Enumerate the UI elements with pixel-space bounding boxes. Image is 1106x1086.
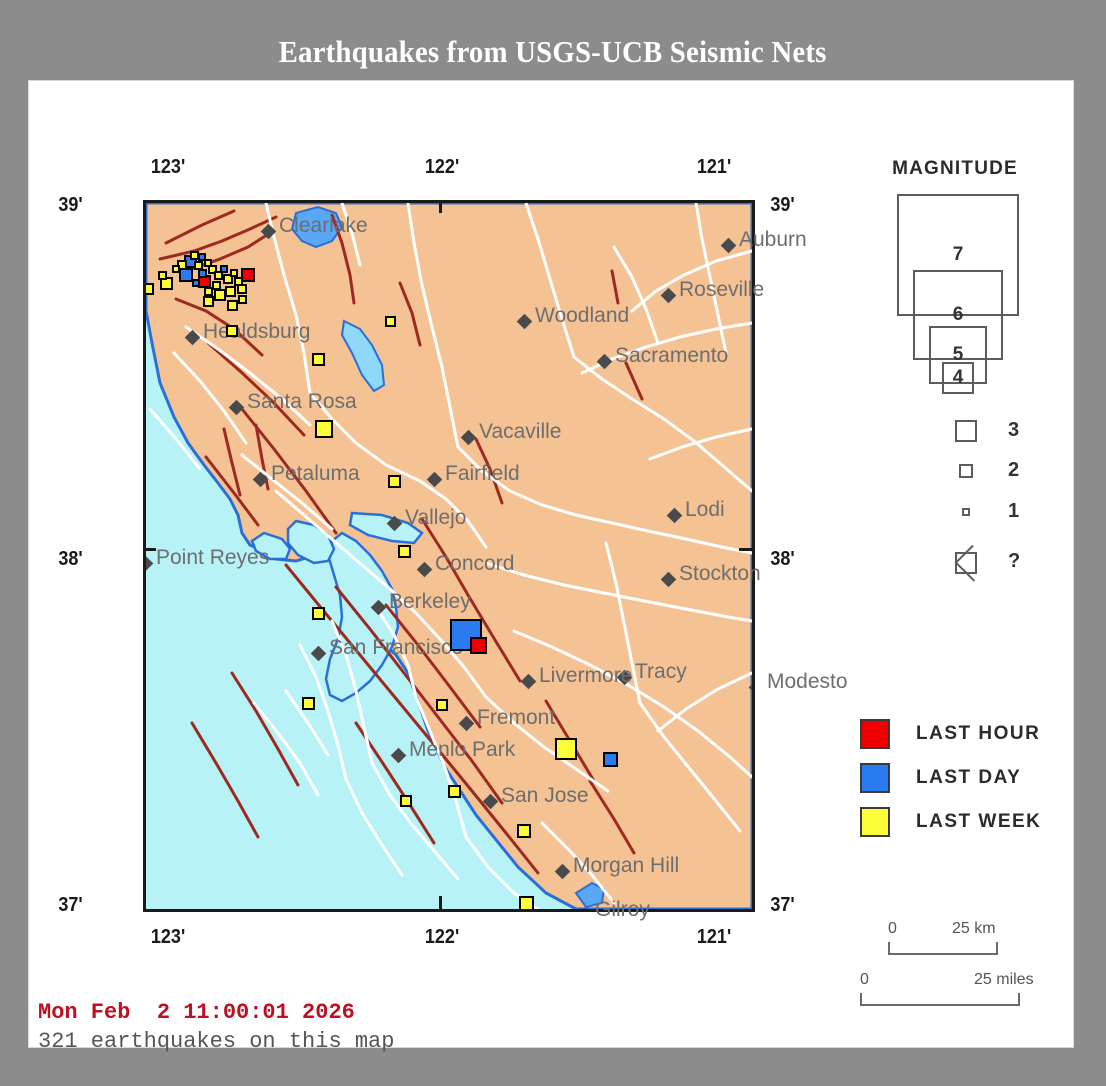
city-label: San Francisco (329, 636, 463, 660)
magnitude-box-3 (955, 420, 977, 442)
map-tick-top (439, 200, 442, 213)
earthquake-count: 321 earthquakes on this map (38, 1029, 394, 1054)
recency-swatch (860, 719, 890, 749)
magnitude-box-stack: 7654321? (860, 194, 1070, 664)
page-title: Earthquakes from USGS-UCB Seismic Nets (279, 34, 827, 70)
longitude-label-bottom-1: 122' (425, 926, 459, 949)
earthquake-map[interactable]: ClearlakeAuburnRosevilleWoodlandSacramen… (143, 200, 755, 912)
longitude-label-top-1: 122' (425, 156, 459, 179)
earthquake-marker[interactable] (234, 277, 243, 286)
city-label: Morgan Hill (573, 854, 679, 878)
city-label: Modesto (767, 670, 848, 694)
earthquake-marker[interactable] (398, 545, 411, 558)
map-tick-bottom (439, 896, 442, 909)
recency-row: LAST DAY (860, 756, 1041, 800)
city-label: Clearlake (279, 214, 368, 238)
map-tick-left (143, 548, 156, 551)
earthquake-marker[interactable] (179, 268, 193, 282)
earthquake-marker[interactable] (143, 283, 154, 295)
application-window: Earthquakes from USGS-UCB Seismic Nets (0, 0, 1106, 1086)
earthquake-marker[interactable] (204, 259, 212, 267)
city-label: Berkeley (389, 590, 471, 614)
city-label: Auburn (739, 228, 807, 252)
earthquake-marker[interactable] (198, 269, 207, 278)
earthquake-marker[interactable] (238, 295, 247, 304)
city-label: Gilroy (595, 898, 650, 922)
earthquake-marker[interactable] (519, 896, 534, 911)
city-label: Livermore (539, 664, 632, 688)
earthquake-marker[interactable] (517, 824, 531, 838)
earthquake-marker[interactable] (225, 286, 236, 297)
earthquake-marker[interactable] (203, 296, 214, 307)
city-label: Vallejo (405, 506, 466, 530)
city-label: Concord (435, 552, 514, 576)
earthquake-marker[interactable] (192, 279, 200, 287)
scale-zero-label: 0 (888, 920, 897, 938)
city-label: Sacramento (615, 344, 728, 368)
magnitude-box-label-7: 7 (938, 244, 978, 266)
magnitude-label-2: 2 (1008, 459, 1019, 482)
recency-label: LAST WEEK (916, 811, 1041, 833)
earthquake-marker[interactable] (312, 353, 325, 366)
magnitude-box-unknown (955, 552, 977, 574)
latitude-label-right-1: 38' (770, 548, 794, 571)
city-label: Tracy (635, 660, 687, 684)
earthquake-marker[interactable] (603, 752, 618, 767)
earthquake-marker[interactable] (212, 281, 221, 290)
recency-row: LAST WEEK (860, 800, 1041, 844)
city-label: Stockton (679, 562, 761, 586)
magnitude-label-3: 3 (1008, 419, 1019, 442)
city-label: Lodi (685, 498, 725, 522)
longitude-label-top-2: 121' (697, 156, 731, 179)
earthquake-marker[interactable] (172, 265, 180, 273)
city-label: San Jose (501, 784, 589, 808)
earthquake-marker[interactable] (226, 325, 238, 337)
earthquake-marker[interactable] (400, 795, 412, 807)
earthquake-marker[interactable] (227, 300, 238, 311)
scale-end-label: 25 miles (974, 971, 1034, 989)
earthquake-marker[interactable] (388, 475, 401, 488)
magnitude-legend-title: MAGNITUDE (860, 158, 1050, 180)
recency-row: LAST HOUR (860, 712, 1041, 756)
earthquake-marker[interactable] (315, 420, 333, 438)
earthquake-marker[interactable] (204, 287, 213, 296)
scale-bar: 025 km (888, 920, 1070, 955)
latitude-label-left-0: 39' (58, 194, 82, 217)
recency-label: LAST HOUR (916, 723, 1040, 745)
scale-end-label: 25 km (952, 920, 996, 938)
city-label: Fremont (477, 706, 555, 730)
map-tick-right (739, 548, 752, 551)
earthquake-marker[interactable] (237, 284, 247, 294)
longitude-label-bottom-0: 123' (151, 926, 185, 949)
scale-zero-label: 0 (860, 971, 869, 989)
city-label: Petaluma (271, 462, 360, 486)
timestamp: Mon Feb 2 11:00:01 2026 (38, 1000, 394, 1025)
earthquake-marker[interactable] (385, 316, 396, 327)
earthquake-marker[interactable] (448, 785, 461, 798)
magnitude-box-1 (962, 508, 970, 516)
latitude-label-left-1: 38' (58, 548, 82, 571)
earthquake-marker[interactable] (158, 271, 167, 280)
latitude-label-right-0: 39' (770, 194, 794, 217)
magnitude-label-unknown: ? (1008, 550, 1020, 573)
earthquake-marker[interactable] (220, 265, 228, 273)
magnitude-box-label-4: 4 (938, 367, 978, 389)
earthquake-marker[interactable] (241, 268, 255, 282)
recency-swatch (860, 807, 890, 837)
latitude-label-left-2: 37' (58, 894, 82, 917)
magnitude-box-2 (959, 464, 973, 478)
city-label: Santa Rosa (247, 390, 357, 414)
scale-bars: 025 km025 miles (860, 920, 1070, 1006)
magnitude-legend: MAGNITUDE 7654321? (860, 158, 1070, 664)
magnitude-box-label-6: 6 (938, 304, 978, 326)
recency-label: LAST DAY (916, 767, 1021, 789)
earthquake-marker[interactable] (555, 738, 577, 760)
footer: Mon Feb 2 11:00:01 2026 321 earthquakes … (38, 1000, 394, 1054)
recency-color-key: LAST HOURLAST DAYLAST WEEK (860, 712, 1041, 844)
earthquake-marker[interactable] (436, 699, 448, 711)
city-label: Healdsburg (203, 320, 310, 344)
city-label: Woodland (535, 304, 629, 328)
city-label: Vacaville (479, 420, 561, 444)
earthquake-marker[interactable] (312, 607, 325, 620)
city-label: Menlo Park (409, 738, 515, 762)
earthquake-marker[interactable] (302, 697, 315, 710)
latitude-label-right-2: 37' (770, 894, 794, 917)
magnitude-label-1: 1 (1008, 500, 1019, 523)
title-bar: Earthquakes from USGS-UCB Seismic Nets (28, 26, 1078, 78)
longitude-label-top-0: 123' (151, 156, 185, 179)
longitude-label-bottom-2: 121' (697, 926, 731, 949)
city-label: Roseville (679, 278, 764, 302)
city-label: Point Reyes (156, 546, 269, 570)
earthquake-marker[interactable] (470, 637, 487, 654)
recency-swatch (860, 763, 890, 793)
earthquake-marker[interactable] (230, 269, 238, 277)
city-label: Fairfield (445, 462, 520, 486)
scale-bar: 025 miles (860, 971, 1070, 1006)
